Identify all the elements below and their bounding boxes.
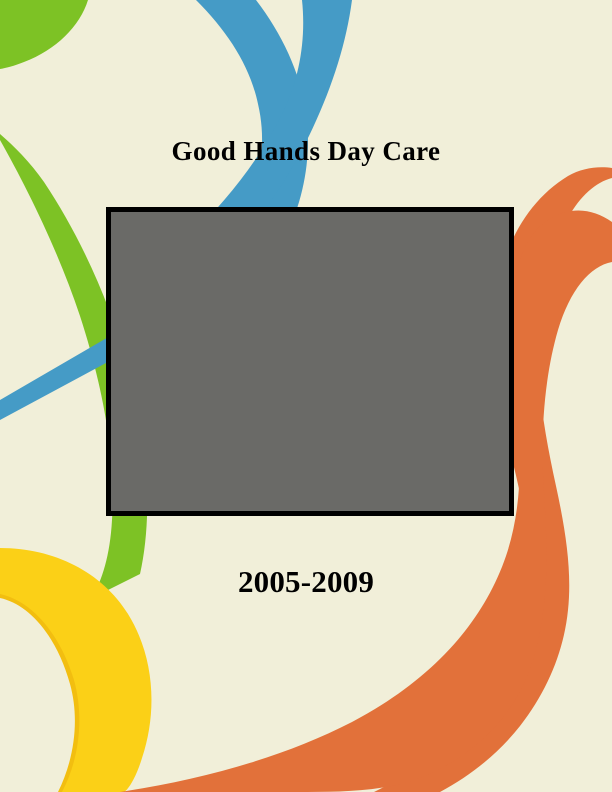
blue-swoosh-top-fill — [190, 0, 352, 236]
cover-page: Good Hands Day Care 2005-2009 — [0, 0, 612, 792]
page-title: Good Hands Day Care — [0, 134, 612, 168]
cover-date-range: 2005-2009 — [0, 563, 612, 601]
blue-swoosh-top-shape — [196, 0, 308, 236]
green-corner-blob-top-left-shape — [0, 0, 88, 69]
photo-placeholder[interactable] — [106, 207, 514, 516]
photo-placeholder-fill — [111, 212, 509, 511]
